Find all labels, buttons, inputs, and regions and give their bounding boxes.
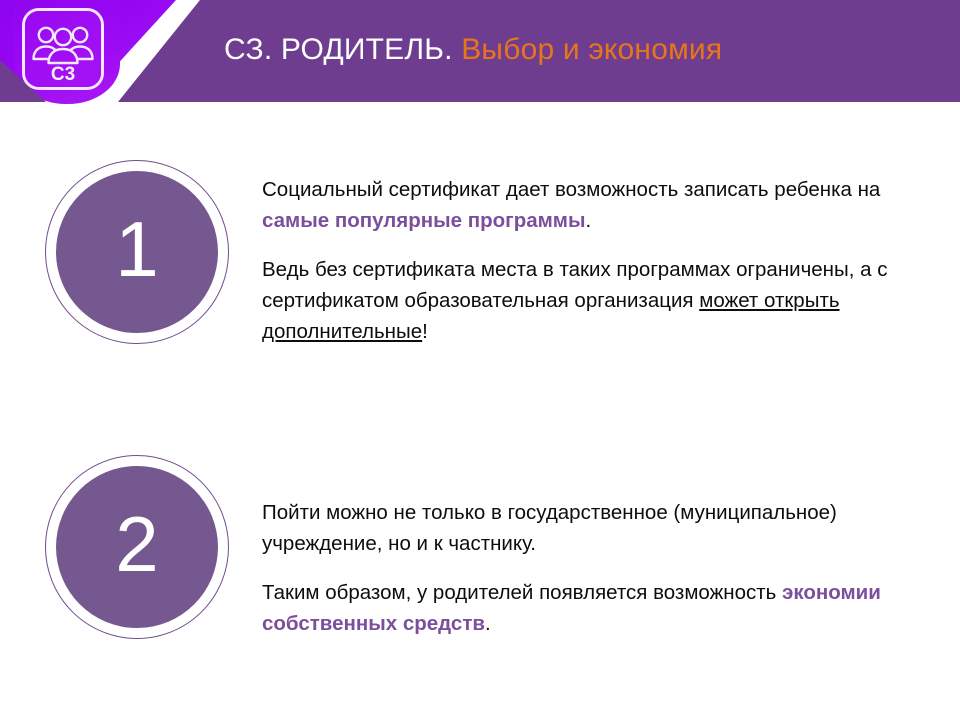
text-run: Таким образом, у родителей появляется во…: [262, 581, 782, 604]
page-title-main: СЗ. РОДИТЕЛЬ.: [224, 33, 453, 66]
slide-header: C3 СЗ. РОДИТЕЛЬ. Выбор и экономия: [0, 0, 960, 102]
slide-canvas: C3 СЗ. РОДИТЕЛЬ. Выбор и экономия 1 Соци…: [0, 0, 960, 720]
content-item-1-text: Социальный сертификат дает возможность з…: [262, 174, 890, 347]
step-badge-2-disc: 2: [56, 466, 218, 628]
step-badge-1-number: 1: [115, 210, 158, 288]
step-badge-2-number: 2: [115, 505, 158, 583]
paragraph: Таким образом, у родителей появляется во…: [262, 577, 890, 639]
text-run-highlight: самые популярные программы: [262, 209, 585, 232]
paragraph: Ведь без сертификата места в таких прогр…: [262, 254, 890, 347]
step-badge-2: 2: [45, 455, 229, 639]
content-item-2-text: Пойти можно не только в государственное …: [262, 497, 890, 639]
three-people-group-icon: C3: [25, 11, 101, 87]
step-badge-1-disc: 1: [56, 171, 218, 333]
text-run: .: [485, 612, 491, 635]
paragraph: Пойти можно не только в государственное …: [262, 497, 890, 559]
page-title-accent: Выбор и экономия: [461, 33, 722, 66]
text-run: !: [422, 320, 428, 343]
text-run: Пойти можно не только в государственное …: [262, 501, 837, 555]
text-run: .: [585, 209, 591, 232]
text-run: Социальный сертификат дает возможность з…: [262, 178, 880, 201]
logo-badge: C3: [22, 8, 104, 90]
step-badge-1: 1: [45, 160, 229, 344]
paragraph: Социальный сертификат дает возможность з…: [262, 174, 890, 236]
logo-label: C3: [51, 64, 75, 85]
page-title: СЗ. РОДИТЕЛЬ. Выбор и экономия: [224, 26, 722, 74]
